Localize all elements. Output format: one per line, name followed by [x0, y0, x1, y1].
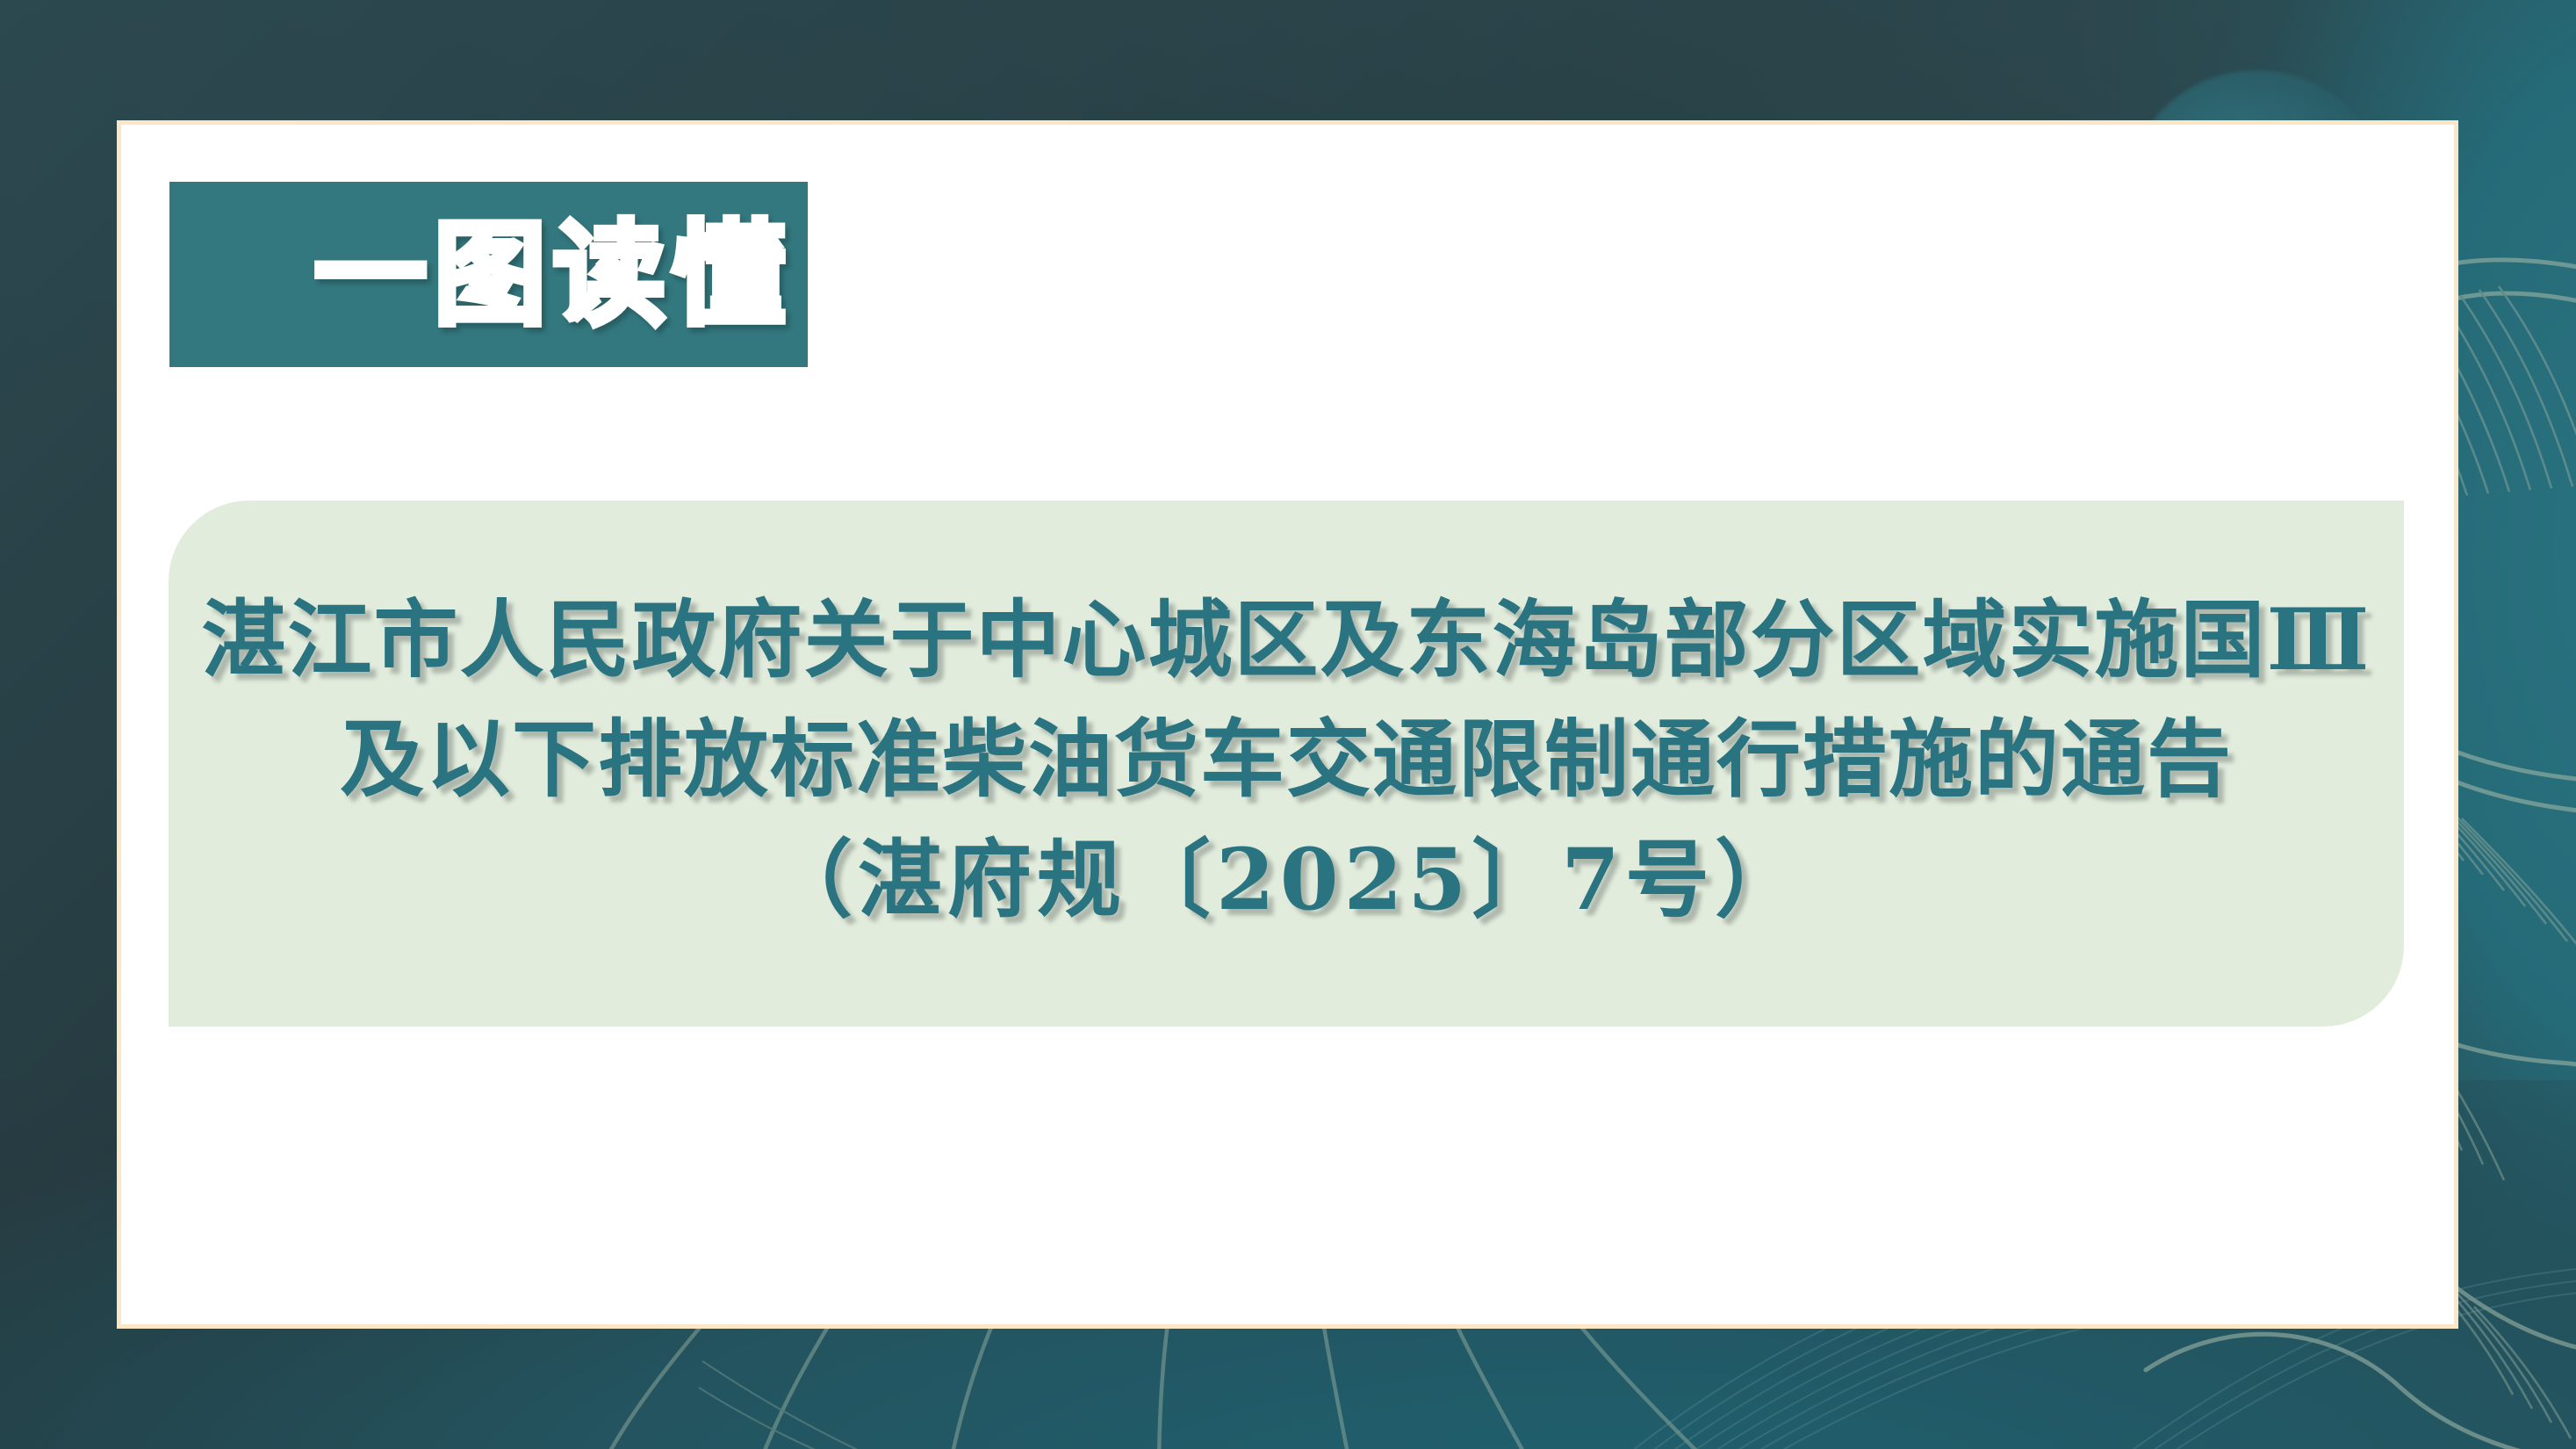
infographic-badge-label: 一图读懂: [314, 219, 808, 331]
document-title-line-1: 湛江市人民政府关于中心城区及东海岛部分区域实施国Ⅲ: [202, 580, 2371, 700]
slide-canvas: 一图读懂 湛江市人民政府关于中心城区及东海岛部分区域实施国Ⅲ 及以下排放标准柴油…: [0, 0, 2576, 1449]
document-title-line-2: 及以下排放标准柴油货车交通限制通行措施的通告: [340, 700, 2233, 819]
document-title-panel: 湛江市人民政府关于中心城区及东海岛部分区域实施国Ⅲ 及以下排放标准柴油货车交通限…: [169, 501, 2404, 1027]
document-number: （湛府规〔2025〕7号）: [768, 820, 1804, 940]
infographic-badge: 一图读懂: [169, 182, 808, 367]
content-card: 一图读懂 湛江市人民政府关于中心城区及东海岛部分区域实施国Ⅲ 及以下排放标准柴油…: [117, 120, 2458, 1329]
